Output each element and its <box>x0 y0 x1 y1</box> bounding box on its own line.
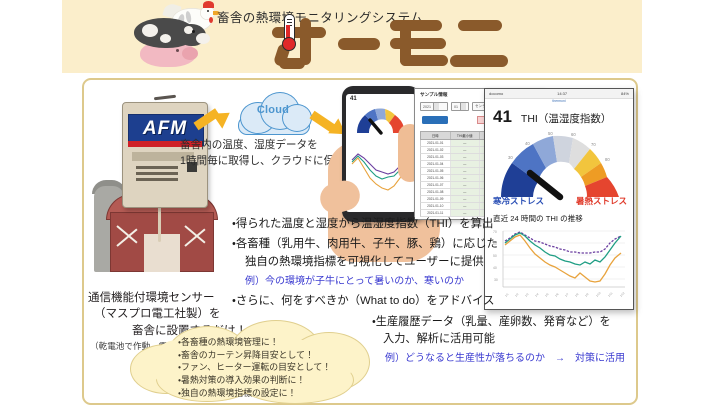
production-data-bullets: ・生産履歴データ（乳量、産卵数、発育など）を 入力、解析に活用可能 例）どうなる… <box>372 314 634 366</box>
table-cell: — <box>451 154 481 160</box>
phone-url-label: thermoni <box>485 99 633 105</box>
use-case-item: ・畜舎のカーテン昇降目安として！ <box>178 349 378 362</box>
table-cell: 2021-01-06 <box>421 175 451 181</box>
use-cases-list: ・各畜種の熱環境管理に！ ・畜舎のカーテン昇降目安として！ ・ファン、ヒーター運… <box>178 336 378 399</box>
chicken-comb-icon <box>203 1 214 8</box>
table-cell: — <box>451 175 481 181</box>
sensor-slot-icon <box>136 178 178 181</box>
clock-label: 14:37 <box>557 91 567 96</box>
use-case-item: ・各畜種の熱環境管理に！ <box>178 336 378 349</box>
use-case-item: ・暑熱対策の導入効果の判断に！ <box>178 374 378 387</box>
logo-stroke <box>338 38 380 50</box>
filter-select-1[interactable]: 2021 <box>420 102 448 111</box>
bullet-item-1: ・得られた温度と湿度から温湿度指数（THI）を算出 <box>232 216 632 233</box>
table-search-button[interactable] <box>422 116 448 124</box>
sensor-slot-icon <box>136 166 178 169</box>
logo-stroke <box>400 55 448 66</box>
arrow-to-cloud-icon <box>196 110 234 136</box>
table-cell: — <box>451 140 481 146</box>
bullet-item-2-cont: 独自の熱環境指標を可視化してユーザーに提供 <box>232 254 632 271</box>
table-cell: 2021-01-02 <box>421 147 451 153</box>
table-cell: — <box>451 147 481 153</box>
filter-select-2[interactable]: 01 <box>451 102 469 111</box>
table-cell: — <box>451 189 481 195</box>
main-content-panel: AFM 通信機能付環境センサー （マスプロ電工社製）を 畜舎に設置するだけ！ （… <box>82 78 638 405</box>
header-band: 畜舎の熱環境モニタリングシステム <box>62 0 642 73</box>
battery-label: 84% <box>621 91 629 96</box>
sensor-antenna-icon <box>154 95 176 101</box>
feature-bullets: ・得られた温度と湿度から温湿度指数（THI）を算出 ・各畜種（乳用牛、肉用牛、子… <box>232 216 632 313</box>
sensor-slot-icon <box>136 172 178 175</box>
table-cell: 2021-01-10 <box>421 203 451 209</box>
barn-door-icon <box>144 234 180 272</box>
pig-snout-icon <box>182 47 198 60</box>
table-cell: 2021-01-09 <box>421 196 451 202</box>
pig-eye-icon <box>176 49 179 52</box>
svg-text:70: 70 <box>591 142 596 147</box>
bullet-item-3: ・さらに、何をすべきか（What to do）をアドバイス <box>232 293 632 310</box>
page-root: 畜舎の熱環境モニタリングシステム <box>0 0 720 405</box>
cow-muzzle-icon <box>196 33 210 44</box>
svg-text:80: 80 <box>605 157 610 162</box>
table-cell: — <box>451 182 481 188</box>
logo-stroke <box>390 38 446 49</box>
table-cell: — <box>451 203 481 209</box>
cold-stress-label: 寒冷ストレス <box>493 195 544 207</box>
heat-stress-label: 暑熱ストレス <box>576 195 627 207</box>
app-logo <box>254 14 554 72</box>
phone-status-bar: docomo 14:37 84% <box>485 89 633 99</box>
use-case-item: ・独自の熱環境指標の設定に！ <box>178 387 378 400</box>
mini-thi-value: 41 <box>350 96 357 102</box>
use-cases-thought-cloud: ・各畜種の熱環境管理に！ ・畜舎のカーテン昇降目安として！ ・ファン、ヒーター運… <box>126 320 378 402</box>
sensor-cord-icon <box>158 206 161 242</box>
table-cell: 2021-01-05 <box>421 168 451 174</box>
table-cell: 2021-01-04 <box>421 161 451 167</box>
table-cell: 2021-01-03 <box>421 154 451 160</box>
table-cell: — <box>451 196 481 202</box>
bullet2-item-1-cont: 入力、解析に活用可能 <box>372 331 634 348</box>
chicken-wattle-icon <box>209 17 213 23</box>
thermometer-icon <box>280 14 297 54</box>
cow-spot-icon <box>142 24 158 37</box>
bullet-example-1: 例）今の環境が子牛にとって暑いのか、寒いのか <box>232 274 632 289</box>
svg-text:50: 50 <box>548 131 553 136</box>
cloud-label: Cloud <box>230 104 316 116</box>
table-cell: — <box>451 161 481 167</box>
table-column-header: THI最小値 <box>451 132 481 139</box>
logo-stroke <box>279 58 305 69</box>
svg-text:30: 30 <box>508 155 513 160</box>
bullet2-example: 例）どうなると生産性が落ちるのか → 対策に活用 <box>372 351 634 366</box>
table-cell: 2021-01-01 <box>421 140 451 146</box>
bullet2-item-1: ・生産履歴データ（乳量、産卵数、発育など）を <box>372 314 634 331</box>
table-cell: — <box>451 168 481 174</box>
thi-value: 41 <box>493 107 512 127</box>
table-screenshot-title: サンプル情報 <box>420 92 447 98</box>
table-cell: 2021-01-07 <box>421 182 451 188</box>
logo-stroke <box>390 20 442 31</box>
carrier-label: docomo <box>489 91 503 96</box>
logo-stroke <box>458 20 502 31</box>
cow-spot-icon <box>160 34 171 43</box>
cloud-icon: Cloud <box>230 90 316 134</box>
thi-label: THI（温湿度指数） <box>521 111 611 126</box>
use-case-item: ・ファン、ヒーター運転の目安として！ <box>178 361 378 374</box>
logo-stroke <box>450 55 508 67</box>
thi-gauge: 3040 5060 7080 <box>495 129 625 201</box>
svg-text:60: 60 <box>571 132 576 137</box>
bullet-item-2: ・各畜種（乳用牛、肉用牛、子牛、豚、鶏）に応じた <box>232 236 632 253</box>
table-column-header: 日時 <box>421 132 451 139</box>
svg-text:40: 40 <box>525 141 530 146</box>
thi-header: 41 THI（温湿度指数） <box>493 107 611 127</box>
table-cell: 2021-01-08 <box>421 189 451 195</box>
